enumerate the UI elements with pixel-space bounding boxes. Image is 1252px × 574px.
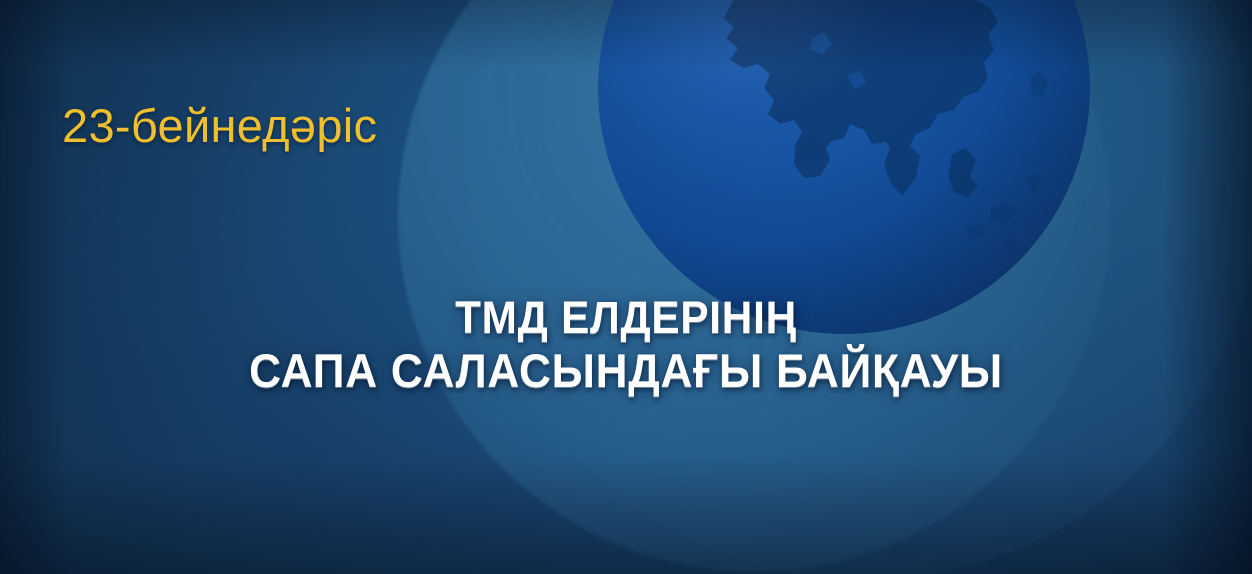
page-title: ТМД ЕЛДЕРІНІҢ САПА САЛАСЫНДАҒЫ БАЙҚАУЫ — [0, 292, 1252, 399]
globe-graphic — [598, 0, 1090, 334]
title-line-1: ТМД ЕЛДЕРІНІҢ — [38, 292, 1215, 344]
lecture-number-label: 23-бейнедәріс — [62, 98, 377, 153]
title-line-2: САПА САЛАСЫНДАҒЫ БАЙҚАУЫ — [38, 344, 1215, 399]
title-card-slide: 23-бейнедәріс ТМД ЕЛДЕРІНІҢ САПА САЛАСЫН… — [0, 0, 1252, 574]
globe-eurasia-icon — [598, 0, 1090, 334]
